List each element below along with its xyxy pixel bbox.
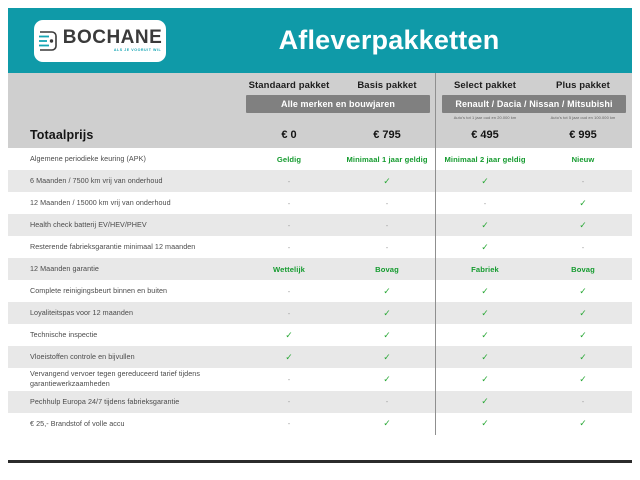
feature-label: Vloeistoffen controle en bijvullen	[8, 346, 240, 368]
feature-value-word: Minimaal 1 jaar geldig	[338, 148, 436, 170]
total-price-standaard: € 0	[240, 121, 338, 148]
bochane-logo[interactable]: BOCHANE ALS JE VOORUIT WIL	[34, 20, 166, 62]
feature-value-check: ✓	[534, 214, 632, 236]
package-name-standaard: Standaard pakket	[240, 73, 338, 91]
feature-value-check: ✓	[338, 324, 436, 346]
feature-value-word: Fabriek	[436, 258, 534, 280]
table-row: 12 Maanden garantieWettelijkBovagFabriek…	[8, 258, 632, 280]
feature-value-check: ✓	[436, 413, 534, 435]
feature-value-check: ✓	[534, 368, 632, 391]
afleverpakketten-page: BOCHANE ALS JE VOORUIT WIL Afleverpakket…	[8, 8, 632, 463]
feature-value-dash: -	[240, 368, 338, 391]
feature-value-check: ✓	[436, 391, 534, 413]
table-row: 12 Maanden / 15000 km vrij van onderhoud…	[8, 192, 632, 214]
total-price-basis: € 795	[338, 121, 436, 148]
feature-rows: Algemene periodieke keuring (APK)GeldigM…	[8, 148, 632, 435]
feature-value-dash: -	[240, 170, 338, 192]
feature-value-check: ✓	[436, 368, 534, 391]
feature-value-dash: -	[240, 280, 338, 302]
package-name-plus: Plus pakket	[534, 73, 632, 91]
feature-value-check: ✓	[338, 346, 436, 368]
feature-label: € 25,- Brandstof of volle accu	[8, 413, 240, 435]
table-row: Health check batterij EV/HEV/PHEV--✓✓	[8, 214, 632, 236]
brands-badge-right: Renault / Dacia / Nissan / Mitsubishi	[442, 95, 626, 113]
feature-value-word: Geldig	[240, 148, 338, 170]
feature-value-check: ✓	[338, 413, 436, 435]
feature-value-check: ✓	[436, 236, 534, 258]
feature-value-dash: -	[534, 170, 632, 192]
feature-value-check: ✓	[240, 346, 338, 368]
feature-value-dash: -	[338, 236, 436, 258]
table-header-row: Standaard pakket Basis pakket Alle merke…	[8, 73, 632, 121]
feature-value-check: ✓	[436, 170, 534, 192]
feature-value-check: ✓	[240, 324, 338, 346]
table-row: Resterende fabrieksgarantie minimaal 12 …	[8, 236, 632, 258]
feature-value-check: ✓	[338, 170, 436, 192]
feature-value-check: ✓	[436, 280, 534, 302]
package-note-plus: Auto's tot 5 jaar oud en 100.000 km	[534, 115, 632, 120]
total-price-plus: € 995	[534, 121, 632, 148]
total-price-select: € 495	[436, 121, 534, 148]
package-name-basis: Basis pakket	[338, 73, 436, 91]
feature-value-check: ✓	[436, 346, 534, 368]
feature-value-check: ✓	[534, 346, 632, 368]
bochane-logo-icon	[38, 29, 58, 53]
total-price-row: Totaalprijs € 0 € 795 € 495 € 995	[8, 121, 632, 148]
table-row: Loyaliteitspas voor 12 maanden-✓✓✓	[8, 302, 632, 324]
feature-value-word: Bovag	[534, 258, 632, 280]
feature-value-dash: -	[338, 391, 436, 413]
feature-value-check: ✓	[338, 302, 436, 324]
table-row: Vloeistoffen controle en bijvullen✓✓✓✓	[8, 346, 632, 368]
feature-label: 6 Maanden / 7500 km vrij van onderhoud	[8, 170, 240, 192]
feature-label: Loyaliteitspas voor 12 maanden	[8, 302, 240, 324]
feature-value-word: Nieuw	[534, 148, 632, 170]
package-name-select: Select pakket	[436, 73, 534, 91]
feature-value-check: ✓	[534, 302, 632, 324]
feature-value-dash: -	[534, 236, 632, 258]
page-title: Afleverpakketten	[166, 25, 612, 56]
feature-label: Resterende fabrieksgarantie minimaal 12 …	[8, 236, 240, 258]
feature-label: Complete reinigingsbeurt binnen en buite…	[8, 280, 240, 302]
logo-tagline: ALS JE VOORUIT WIL	[114, 49, 161, 53]
feature-label: 12 Maanden garantie	[8, 258, 240, 280]
brands-badge-left: Alle merken en bouwjaren	[246, 95, 430, 113]
feature-value-check: ✓	[436, 302, 534, 324]
bottom-bar	[8, 460, 632, 463]
table-row: Technische inspectie✓✓✓✓	[8, 324, 632, 346]
feature-value-check: ✓	[338, 368, 436, 391]
feature-label: Vervangend vervoer tegen gereduceerd tar…	[8, 368, 240, 391]
table-row: 6 Maanden / 7500 km vrij van onderhoud-✓…	[8, 170, 632, 192]
feature-value-word: Minimaal 2 jaar geldig	[436, 148, 534, 170]
feature-label: Health check batterij EV/HEV/PHEV	[8, 214, 240, 236]
table-row: Pechhulp Europa 24/7 tijdens fabrieksgar…	[8, 391, 632, 413]
feature-value-check: ✓	[534, 280, 632, 302]
package-header-basis: Basis pakket Alle merken en bouwjaren	[338, 73, 436, 121]
feature-value-dash: -	[240, 391, 338, 413]
feature-value-word: Bovag	[338, 258, 436, 280]
table-row: Algemene periodieke keuring (APK)GeldigM…	[8, 148, 632, 170]
feature-value-dash: -	[240, 192, 338, 214]
package-comparison-table: Standaard pakket Basis pakket Alle merke…	[8, 73, 632, 435]
feature-label: 12 Maanden / 15000 km vrij van onderhoud	[8, 192, 240, 214]
header-spacer-cell	[8, 73, 240, 121]
feature-label: Pechhulp Europa 24/7 tijdens fabrieksgar…	[8, 391, 240, 413]
package-note-select: Auto's tot 1 jaar oud en 20.000 km	[436, 115, 534, 120]
feature-value-dash: -	[240, 236, 338, 258]
feature-value-check: ✓	[338, 280, 436, 302]
table-row: € 25,- Brandstof of volle accu-✓✓✓	[8, 413, 632, 435]
feature-value-dash: -	[338, 214, 436, 236]
feature-value-dash: -	[534, 391, 632, 413]
feature-value-dash: -	[240, 302, 338, 324]
feature-value-dash: -	[338, 192, 436, 214]
page-header: BOCHANE ALS JE VOORUIT WIL Afleverpakket…	[8, 8, 632, 73]
feature-label: Technische inspectie	[8, 324, 240, 346]
logo-wordmark: BOCHANE	[63, 28, 163, 47]
feature-value-check: ✓	[534, 192, 632, 214]
feature-value-dash: -	[240, 214, 338, 236]
feature-value-word: Wettelijk	[240, 258, 338, 280]
feature-value-dash: -	[436, 192, 534, 214]
feature-value-dash: -	[240, 413, 338, 435]
feature-value-check: ✓	[534, 324, 632, 346]
feature-label: Algemene periodieke keuring (APK)	[8, 148, 240, 170]
package-header-select: Select pakket Renault / Dacia / Nissan /…	[436, 73, 534, 121]
feature-value-check: ✓	[436, 214, 534, 236]
feature-value-check: ✓	[436, 324, 534, 346]
feature-value-check: ✓	[534, 413, 632, 435]
table-row: Vervangend vervoer tegen gereduceerd tar…	[8, 368, 632, 391]
total-price-label: Totaalprijs	[8, 121, 240, 148]
table-row: Complete reinigingsbeurt binnen en buite…	[8, 280, 632, 302]
